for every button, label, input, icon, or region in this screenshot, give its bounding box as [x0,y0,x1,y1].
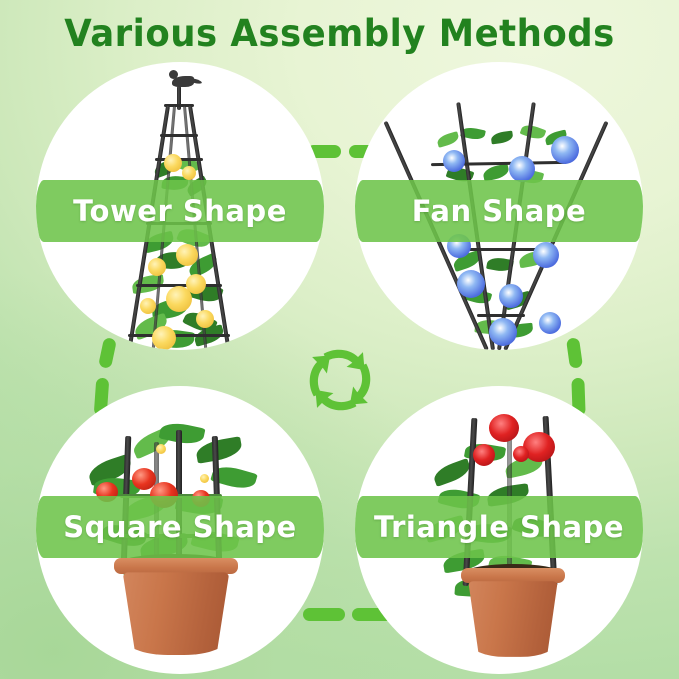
rose-bloom [473,444,495,466]
morning-glory-bloom [551,136,579,164]
leaf [482,163,510,181]
rose-bloom [196,310,214,328]
triangle-label: Triangle Shape [374,510,624,544]
pot-rim [461,568,565,583]
fan-label-band: Fan Shape [355,180,643,242]
morning-glory-bloom [457,270,485,298]
leaf [520,122,547,141]
tower-label-band: Tower Shape [36,180,324,242]
pot-body [468,581,557,657]
morning-glory-bloom [443,150,465,172]
rose-bloom [166,286,192,312]
bird-head-icon [169,70,178,79]
morning-glory-bloom [509,156,535,182]
square-label: Square Shape [63,510,296,544]
tomato-flower [156,444,166,454]
rose-bloom [152,326,176,350]
leaf [431,458,473,487]
rose-bloom [176,244,198,266]
fan-rail [477,314,525,317]
triangle-label-band: Triangle Shape [355,496,643,558]
fan-rail [459,248,543,251]
planter-pot [114,558,238,654]
planter-pot [461,568,565,656]
tower-label: Tower Shape [73,194,287,228]
rose-bloom [182,166,196,180]
tower-ring [160,134,198,137]
recycle-arrows-icon [299,339,381,421]
pot-body [123,572,230,655]
rose-bloom [489,414,519,442]
tower-ring [128,334,230,337]
leaf [195,436,244,464]
infographic-canvas: Various Assembly Methods [0,0,679,679]
page-title: Various Assembly Methods [14,12,666,55]
rose-bloom [164,154,182,172]
tomato-flower [200,474,209,483]
morning-glory-bloom [499,284,523,308]
fan-label: Fan Shape [412,194,586,228]
morning-glory-bloom [539,312,561,334]
rose-bloom [140,298,156,314]
square-label-band: Square Shape [36,496,324,558]
method-card-tower[interactable]: Tower Shape [36,62,324,350]
morning-glory-bloom [533,242,559,268]
method-card-square[interactable]: Square Shape [36,386,324,674]
rose-bloom [513,446,529,462]
rose-bloom [148,258,166,276]
pot-rim [114,558,238,574]
morning-glory-bloom [489,318,517,346]
leaf [436,131,460,148]
leaf [490,131,513,145]
method-card-triangle[interactable]: Triangle Shape [355,386,643,674]
method-card-fan[interactable]: Fan Shape [355,62,643,350]
